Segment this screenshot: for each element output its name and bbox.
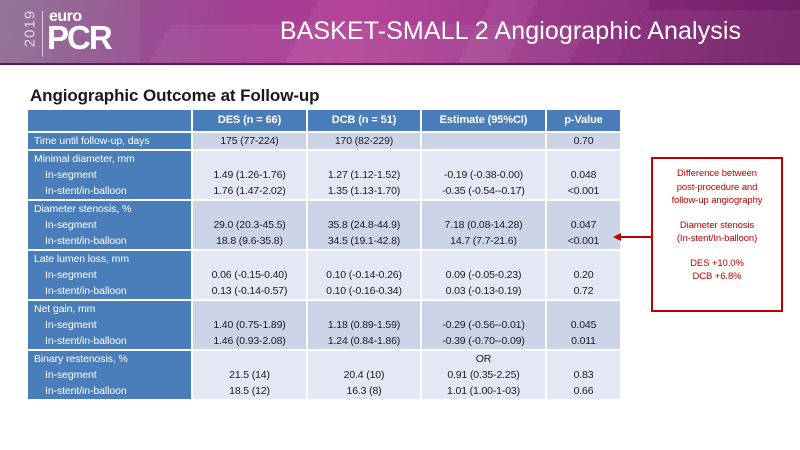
cell-estimate: 14.7 (7.7-21.6) bbox=[421, 233, 546, 250]
cell-dcb: 1.35 (1.13-1.70) bbox=[307, 183, 421, 200]
cell-des bbox=[192, 200, 307, 217]
table-row: Diameter stenosis, % bbox=[28, 200, 620, 217]
callout-line-3: follow-up angiography bbox=[653, 194, 781, 208]
row-label: Net gain, mm bbox=[28, 300, 192, 317]
cell-des bbox=[192, 350, 307, 367]
cell-pvalue: 0.70 bbox=[546, 132, 620, 150]
callout-arrow-icon bbox=[613, 233, 653, 241]
table-row: In-stent/in-balloon0.13 (-0.14-0.57)0.10… bbox=[28, 283, 620, 300]
cell-des: 1.76 (1.47-2.02) bbox=[192, 183, 307, 200]
callout-box: Difference between post-procedure and fo… bbox=[651, 157, 783, 312]
cell-estimate bbox=[421, 132, 546, 150]
cell-dcb: 20.4 (10) bbox=[307, 367, 421, 383]
table-row: In-segment1.40 (0.75-1.89)1.18 (0.89-1.5… bbox=[28, 317, 620, 333]
cell-pvalue bbox=[546, 350, 620, 367]
banner-underline bbox=[0, 63, 800, 65]
row-label: In-stent/in-balloon bbox=[28, 333, 192, 350]
cell-dcb: 35.8 (24.8-44.9) bbox=[307, 217, 421, 233]
table-row: In-stent/in-balloon1.46 (0.93-2.08)1.24 … bbox=[28, 333, 620, 350]
table-row: In-stent/in-balloon1.76 (1.47-2.02)1.35 … bbox=[28, 183, 620, 200]
cell-pvalue bbox=[546, 200, 620, 217]
row-label: In-segment bbox=[28, 317, 192, 333]
cell-des bbox=[192, 150, 307, 167]
cell-pvalue bbox=[546, 150, 620, 167]
europcr-logo: 2019 euro PCR bbox=[14, 7, 136, 59]
table-row: In-segment1.49 (1.26-1.76)1.27 (1.12-1.5… bbox=[28, 167, 620, 183]
row-label: Minimal diameter, mm bbox=[28, 150, 192, 167]
cell-des: 175 (77-224) bbox=[192, 132, 307, 150]
cell-des: 0.06 (-0.15-0.40) bbox=[192, 267, 307, 283]
cell-des bbox=[192, 300, 307, 317]
cell-estimate: -0.39 (-0.70--0.09) bbox=[421, 333, 546, 350]
column-header-measure bbox=[28, 110, 192, 132]
banner-title: BASKET-SMALL 2 Angiographic Analysis bbox=[238, 17, 783, 46]
callout-line-1: Difference between bbox=[653, 167, 781, 181]
column-header-dcb: DCB (n = 51) bbox=[307, 110, 421, 132]
cell-dcb bbox=[307, 200, 421, 217]
column-header-estimate: Estimate (95%CI) bbox=[421, 110, 546, 132]
cell-pvalue: 0.20 bbox=[546, 267, 620, 283]
cell-estimate: -0.29 (-0.56--0.01) bbox=[421, 317, 546, 333]
callout-line-6: DES +10.0% bbox=[653, 257, 781, 271]
slide: 2019 euro PCR BASKET-SMALL 2 Angiographi… bbox=[0, 0, 800, 450]
cell-pvalue: <0.001 bbox=[546, 183, 620, 200]
page-title: Angiographic Outcome at Follow-up bbox=[30, 86, 319, 106]
cell-estimate: -0.19 (-0.38-0.00) bbox=[421, 167, 546, 183]
table-row: Time until follow-up, days175 (77-224)17… bbox=[28, 132, 620, 150]
row-label: In-segment bbox=[28, 167, 192, 183]
callout-line-4: Diameter stenosis bbox=[653, 219, 781, 233]
row-label: Diameter stenosis, % bbox=[28, 200, 192, 217]
row-label: Late lumen loss, mm bbox=[28, 250, 192, 267]
cell-dcb: 170 (82-229) bbox=[307, 132, 421, 150]
row-label: In-stent/in-balloon bbox=[28, 283, 192, 300]
cell-dcb bbox=[307, 250, 421, 267]
cell-estimate bbox=[421, 300, 546, 317]
column-header-pvalue: p-Value bbox=[546, 110, 620, 132]
cell-dcb: 0.10 (-0.14-0.26) bbox=[307, 267, 421, 283]
row-label: In-segment bbox=[28, 217, 192, 233]
table-row: Net gain, mm bbox=[28, 300, 620, 317]
cell-des: 1.40 (0.75-1.89) bbox=[192, 317, 307, 333]
table-row: Late lumen loss, mm bbox=[28, 250, 620, 267]
cell-pvalue bbox=[546, 300, 620, 317]
cell-des: 29.0 (20.3-45.5) bbox=[192, 217, 307, 233]
cell-estimate bbox=[421, 200, 546, 217]
header-banner: 2019 euro PCR BASKET-SMALL 2 Angiographi… bbox=[0, 0, 800, 65]
cell-estimate: 0.09 (-0.05-0.23) bbox=[421, 267, 546, 283]
cell-dcb bbox=[307, 350, 421, 367]
cell-des: 18.8 (9.6-35.8) bbox=[192, 233, 307, 250]
row-label: In-segment bbox=[28, 367, 192, 383]
cell-des: 21.5 (14) bbox=[192, 367, 307, 383]
cell-estimate: -0.35 (-0.54--0.17) bbox=[421, 183, 546, 200]
table-header-row: DES (n = 66) DCB (n = 51) Estimate (95%C… bbox=[28, 110, 620, 132]
row-label: In-stent/in-balloon bbox=[28, 233, 192, 250]
row-label: Binary restenosis, % bbox=[28, 350, 192, 367]
logo-year: 2019 bbox=[22, 3, 39, 55]
table-row: In-segment21.5 (14)20.4 (10)0.91 (0.35-2… bbox=[28, 367, 620, 383]
row-label: Time until follow-up, days bbox=[28, 132, 192, 150]
cell-pvalue bbox=[546, 250, 620, 267]
cell-pvalue: 0.047 bbox=[546, 217, 620, 233]
callout-line-2: post-procedure and bbox=[653, 181, 781, 195]
cell-pvalue: 0.011 bbox=[546, 333, 620, 350]
table-row: In-stent/in-balloon18.8 (9.6-35.8)34.5 (… bbox=[28, 233, 620, 250]
cell-des: 18.5 (12) bbox=[192, 383, 307, 400]
cell-estimate: OR bbox=[421, 350, 546, 367]
table-row: Minimal diameter, mm bbox=[28, 150, 620, 167]
cell-pvalue: 0.72 bbox=[546, 283, 620, 300]
cell-pvalue: 0.045 bbox=[546, 317, 620, 333]
logo-pcr-text: PCR bbox=[47, 21, 111, 54]
cell-pvalue: <0.001 bbox=[546, 233, 620, 250]
cell-pvalue: 0.83 bbox=[546, 367, 620, 383]
cell-estimate: 1.01 (1.00-1-03) bbox=[421, 383, 546, 400]
cell-des: 0.13 (-0.14-0.57) bbox=[192, 283, 307, 300]
cell-dcb: 1.24 (0.84-1.86) bbox=[307, 333, 421, 350]
cell-dcb: 0.10 (-0.16-0.34) bbox=[307, 283, 421, 300]
cell-dcb: 16.3 (8) bbox=[307, 383, 421, 400]
table-row: In-segment0.06 (-0.15-0.40)0.10 (-0.14-0… bbox=[28, 267, 620, 283]
cell-estimate bbox=[421, 150, 546, 167]
cell-dcb: 1.27 (1.12-1.52) bbox=[307, 167, 421, 183]
row-label: In-stent/in-balloon bbox=[28, 183, 192, 200]
cell-dcb: 34.5 (19.1-42.8) bbox=[307, 233, 421, 250]
cell-estimate: 0.03 (-0.13-0.19) bbox=[421, 283, 546, 300]
cell-pvalue: 0.048 bbox=[546, 167, 620, 183]
callout-line-7: DCB +6.8% bbox=[653, 270, 781, 284]
cell-dcb bbox=[307, 300, 421, 317]
cell-dcb: 1.18 (0.89-1.59) bbox=[307, 317, 421, 333]
cell-estimate: 7.18 (0.08-14.28) bbox=[421, 217, 546, 233]
angiographic-outcome-table: DES (n = 66) DCB (n = 51) Estimate (95%C… bbox=[28, 110, 620, 401]
cell-des: 1.46 (0.93-2.08) bbox=[192, 333, 307, 350]
cell-estimate: 0.91 (0.35-2.25) bbox=[421, 367, 546, 383]
column-header-des: DES (n = 66) bbox=[192, 110, 307, 132]
row-label: In-stent/in-balloon bbox=[28, 383, 192, 400]
cell-des: 1.49 (1.26-1.76) bbox=[192, 167, 307, 183]
cell-des bbox=[192, 250, 307, 267]
row-label: In-segment bbox=[28, 267, 192, 283]
cell-pvalue: 0.66 bbox=[546, 383, 620, 400]
table-row: In-stent/in-balloon18.5 (12)16.3 (8)1.01… bbox=[28, 383, 620, 400]
table-row: Binary restenosis, %OR bbox=[28, 350, 620, 367]
logo-divider bbox=[42, 11, 43, 57]
table-body: Time until follow-up, days175 (77-224)17… bbox=[28, 132, 620, 400]
cell-dcb bbox=[307, 150, 421, 167]
table-row: In-segment29.0 (20.3-45.5)35.8 (24.8-44.… bbox=[28, 217, 620, 233]
callout-line-5: (In-stent/In-balloon) bbox=[653, 232, 781, 246]
cell-estimate bbox=[421, 250, 546, 267]
